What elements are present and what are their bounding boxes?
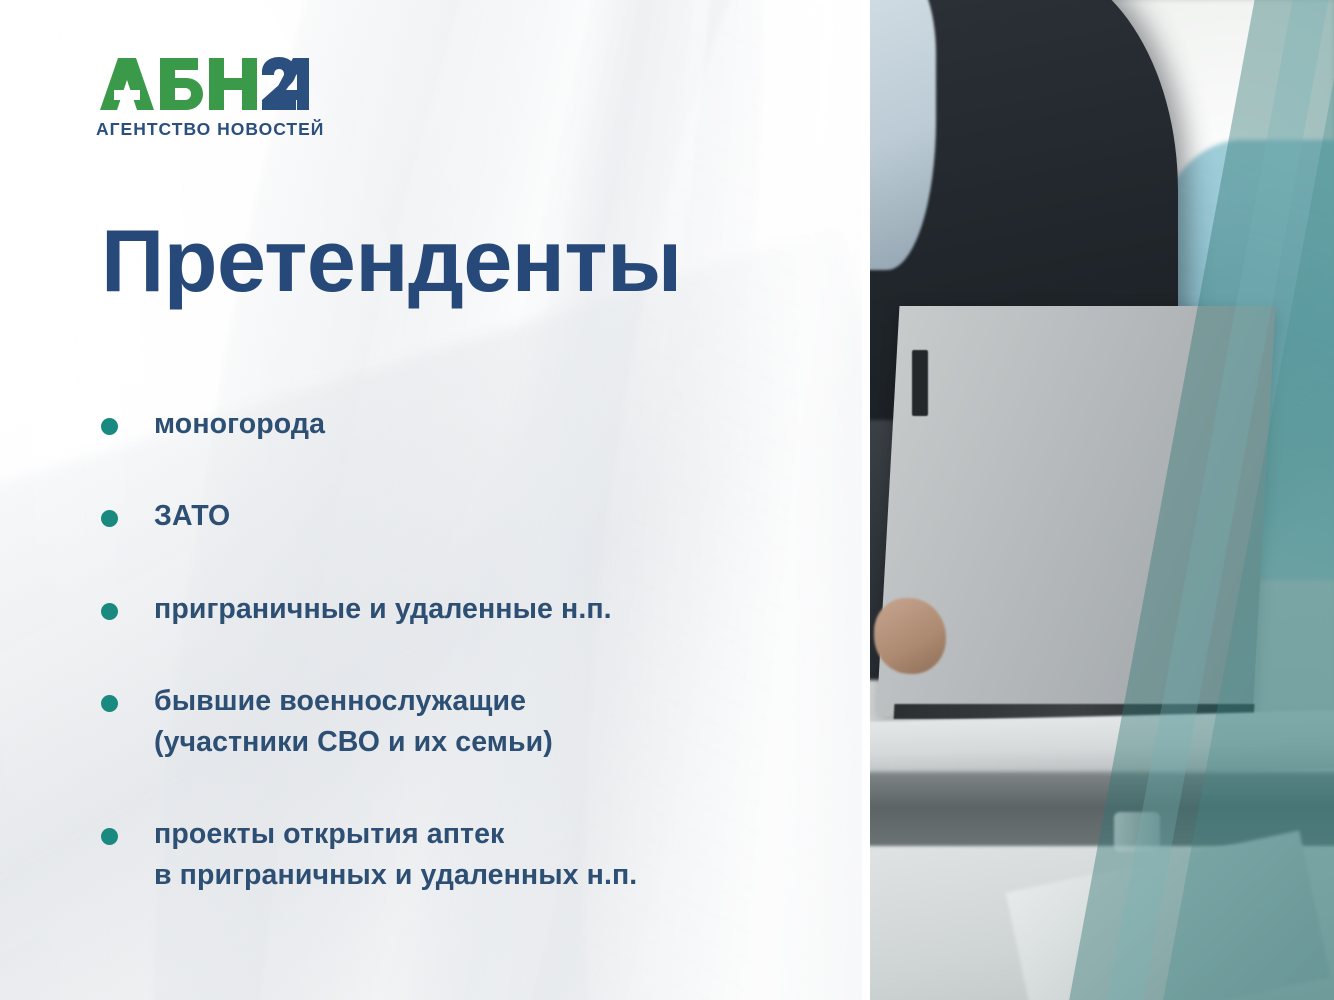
photo-desk-surface bbox=[868, 710, 1334, 780]
panel-seam bbox=[862, 0, 870, 1000]
abn24-logo[interactable]: АГЕНТСТВО НОВОСТЕЙ bbox=[96, 56, 324, 140]
claimants-list: моногорода ЗАТО приграничные и удаленные… bbox=[96, 404, 836, 895]
presentation-slide: АГЕНТСТВО НОВОСТЕЙ Претенденты моногород… bbox=[0, 0, 1334, 1000]
list-item-label: моногорода bbox=[154, 404, 836, 444]
logo-wordmark bbox=[96, 56, 324, 116]
bullet-dot-icon bbox=[101, 510, 118, 527]
bullet-dot-icon bbox=[101, 828, 118, 845]
bullet-dot-icon bbox=[101, 603, 118, 620]
list-item: ЗАТО bbox=[96, 496, 836, 536]
photo-laptop-brand-badge bbox=[912, 350, 928, 416]
list-item: приграничные и удаленные н.п. bbox=[96, 589, 836, 629]
list-item: моногорода bbox=[96, 404, 836, 444]
list-item-label: ЗАТО bbox=[154, 496, 836, 536]
page-title: Претенденты bbox=[101, 216, 682, 306]
list-item: проекты открытия аптек в приграничных и … bbox=[96, 814, 836, 895]
photo-glass-highlight bbox=[1114, 812, 1160, 852]
logo-subtitle: АГЕНТСТВО НОВОСТЕЙ bbox=[96, 119, 324, 140]
list-item-label: бывшие военнослужащие (участники СВО и и… bbox=[154, 681, 836, 762]
logo-svg bbox=[96, 56, 312, 112]
photo-hand bbox=[874, 598, 946, 674]
list-item-label: приграничные и удаленные н.п. bbox=[154, 589, 836, 629]
bullet-dot-icon bbox=[101, 695, 118, 712]
list-item: бывшие военнослужащие (участники СВО и и… bbox=[96, 681, 836, 762]
list-item-label: проекты открытия аптек в приграничных и … bbox=[154, 814, 836, 895]
office-laptop-photo bbox=[868, 0, 1334, 1000]
bullet-dot-icon bbox=[101, 418, 118, 435]
